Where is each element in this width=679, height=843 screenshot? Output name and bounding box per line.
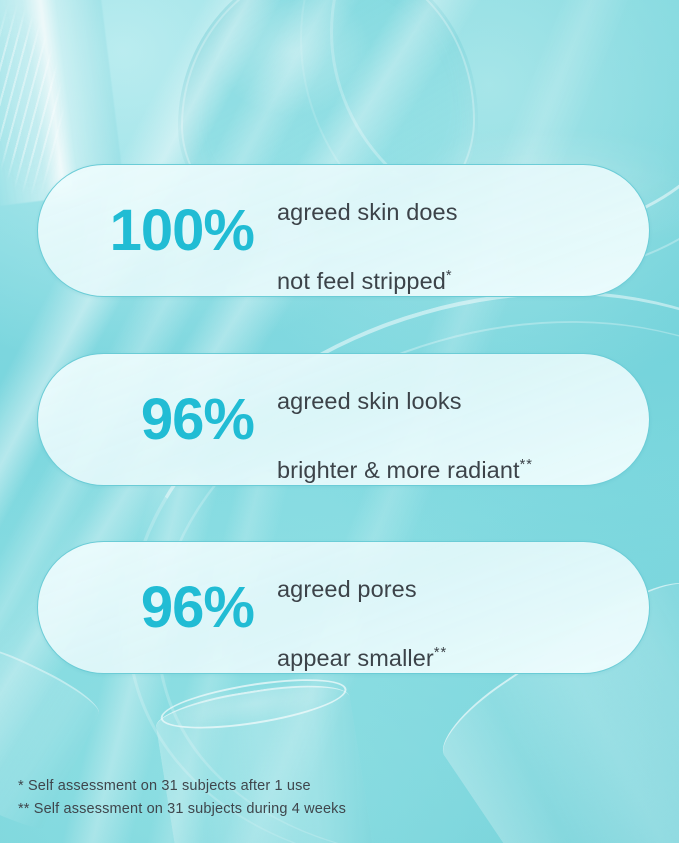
stat-claim-1: agreed skin does not feel stripped* [277,164,458,297]
stat-pill-2: 96% agreed skin looks brighter & more ra… [37,353,650,486]
stat-claim-2: agreed skin looks brighter & more radian… [277,353,533,486]
stat-claim-3-marker: ** [434,645,447,661]
product-claims-graphic: 100% agreed skin does not feel stripped*… [0,0,679,843]
stat-claim-1-marker: * [446,268,453,284]
stat-value-1: 100% [38,202,254,260]
stat-claim-1-line-1: agreed skin does [277,199,458,225]
footnotes: * Self assessment on 31 subjects after 1… [18,775,346,821]
stat-value-3: 96% [38,579,254,637]
stat-value-2: 96% [38,391,254,449]
stat-claim-2-marker: ** [520,457,533,473]
stat-claim-1-line-2: not feel stripped [277,268,446,294]
stat-claim-3-line-1: agreed pores [277,576,417,602]
footnote-double-asterisk: ** Self assessment on 31 subjects during… [18,798,346,821]
stat-claim-3-line-2: appear smaller [277,645,434,671]
stat-claim-3: agreed pores appear smaller** [277,541,447,674]
stat-pill-1: 100% agreed skin does not feel stripped* [37,164,650,297]
footnote-single-asterisk: * Self assessment on 31 subjects after 1… [18,775,346,798]
stat-claim-2-line-1: agreed skin looks [277,388,462,414]
stat-claim-2-line-2: brighter & more radiant [277,457,520,483]
stat-pill-3: 96% agreed pores appear smaller** [37,541,650,674]
